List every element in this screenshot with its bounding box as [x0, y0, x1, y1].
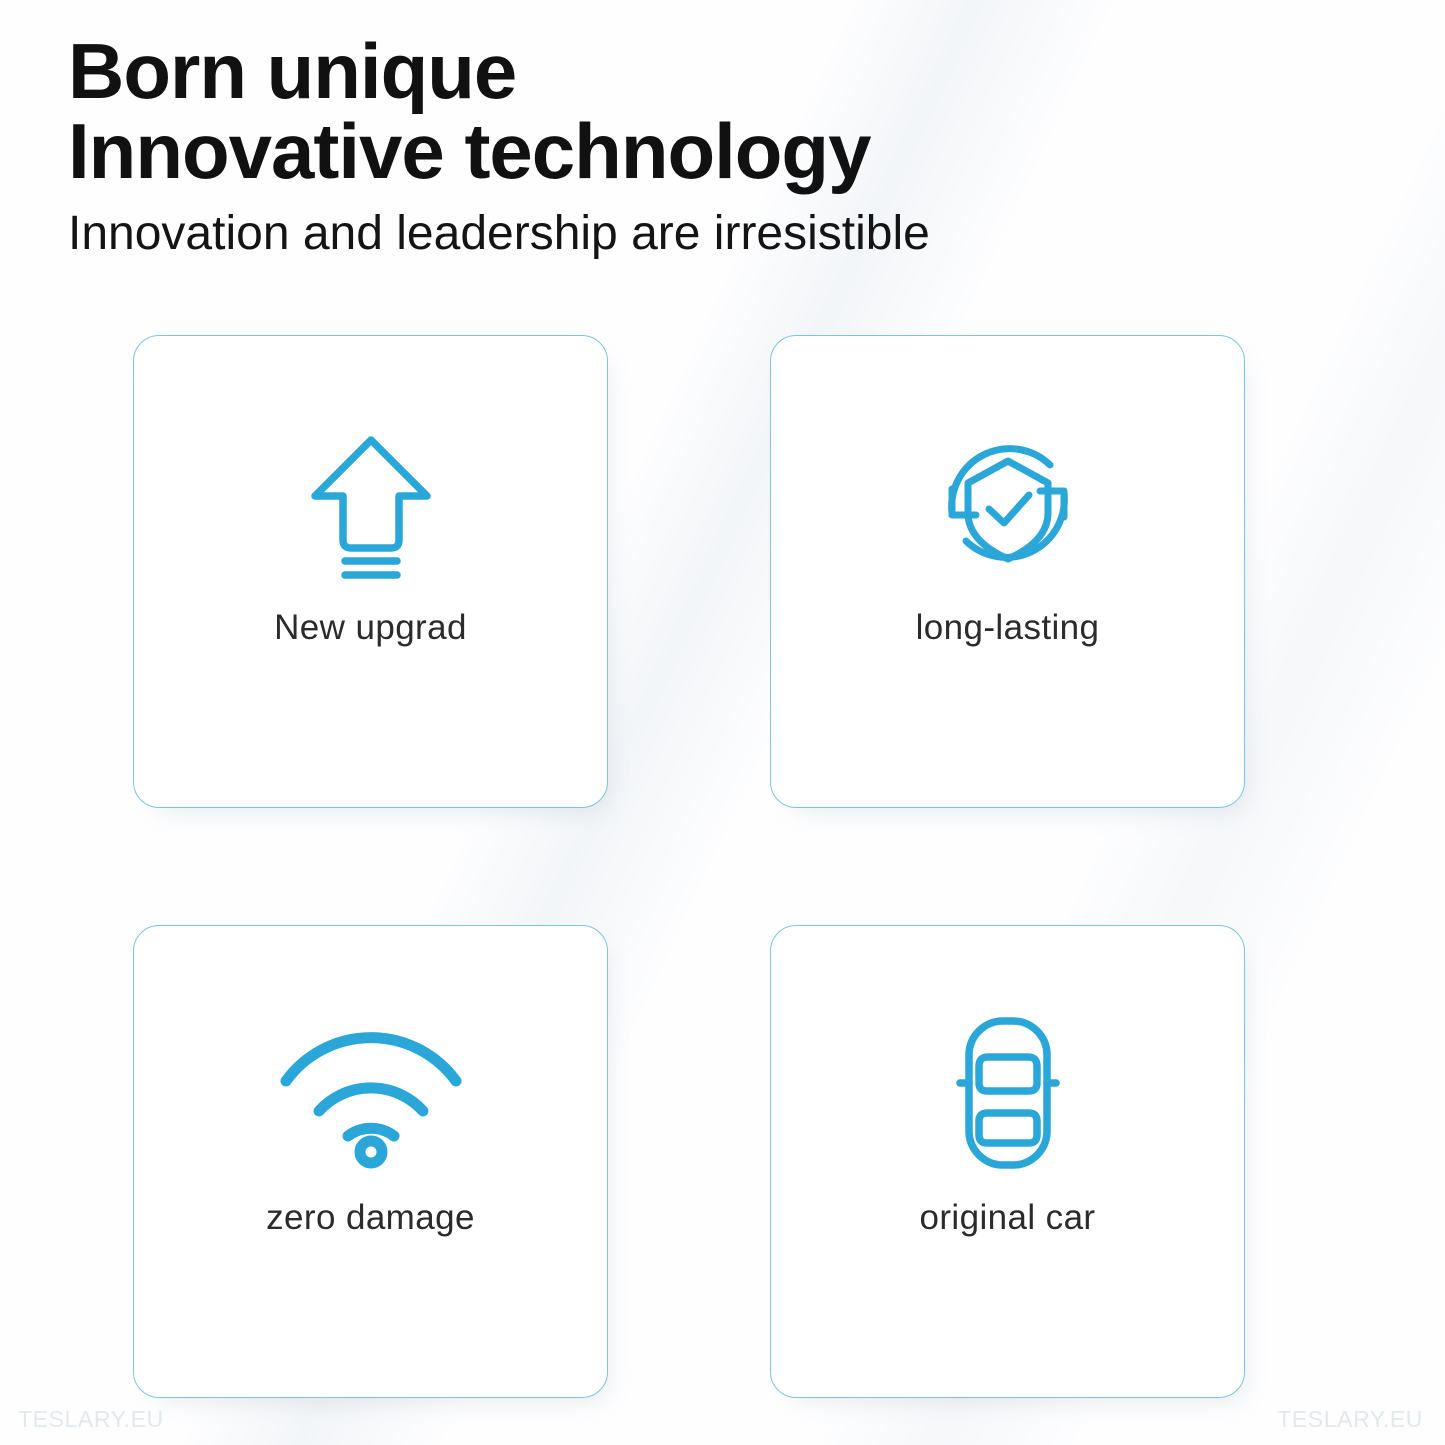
shield-check-refresh-icon — [932, 428, 1084, 578]
feature-card-grid: New upgrad — [133, 335, 1245, 1398]
watermark-left: TESLARY.EU — [18, 1406, 164, 1433]
feature-card-label: zero damage — [266, 1198, 475, 1238]
feature-card-original-car[interactable]: original car — [770, 925, 1245, 1398]
car-top-view-icon — [938, 1018, 1078, 1168]
feature-card-long-lasting[interactable]: long-lasting — [770, 335, 1245, 808]
upload-arrow-icon — [301, 428, 441, 578]
watermark-right: TESLARY.EU — [1277, 1406, 1423, 1433]
header: Born unique Innovative technology Innova… — [68, 34, 1268, 260]
headline-line-2: Innovative technology — [68, 114, 1268, 190]
promo-banner: Born unique Innovative technology Innova… — [0, 0, 1445, 1445]
feature-card-new-upgrad[interactable]: New upgrad — [133, 335, 608, 808]
feature-card-label: New upgrad — [274, 608, 467, 648]
feature-card-label: original car — [920, 1198, 1096, 1238]
headline-line-1: Born unique — [68, 34, 1268, 110]
wifi-signal-icon — [276, 1018, 466, 1168]
feature-card-label: long-lasting — [916, 608, 1100, 648]
feature-card-zero-damage[interactable]: zero damage — [133, 925, 608, 1398]
subheadline: Innovation and leadership are irresistib… — [68, 209, 1268, 259]
